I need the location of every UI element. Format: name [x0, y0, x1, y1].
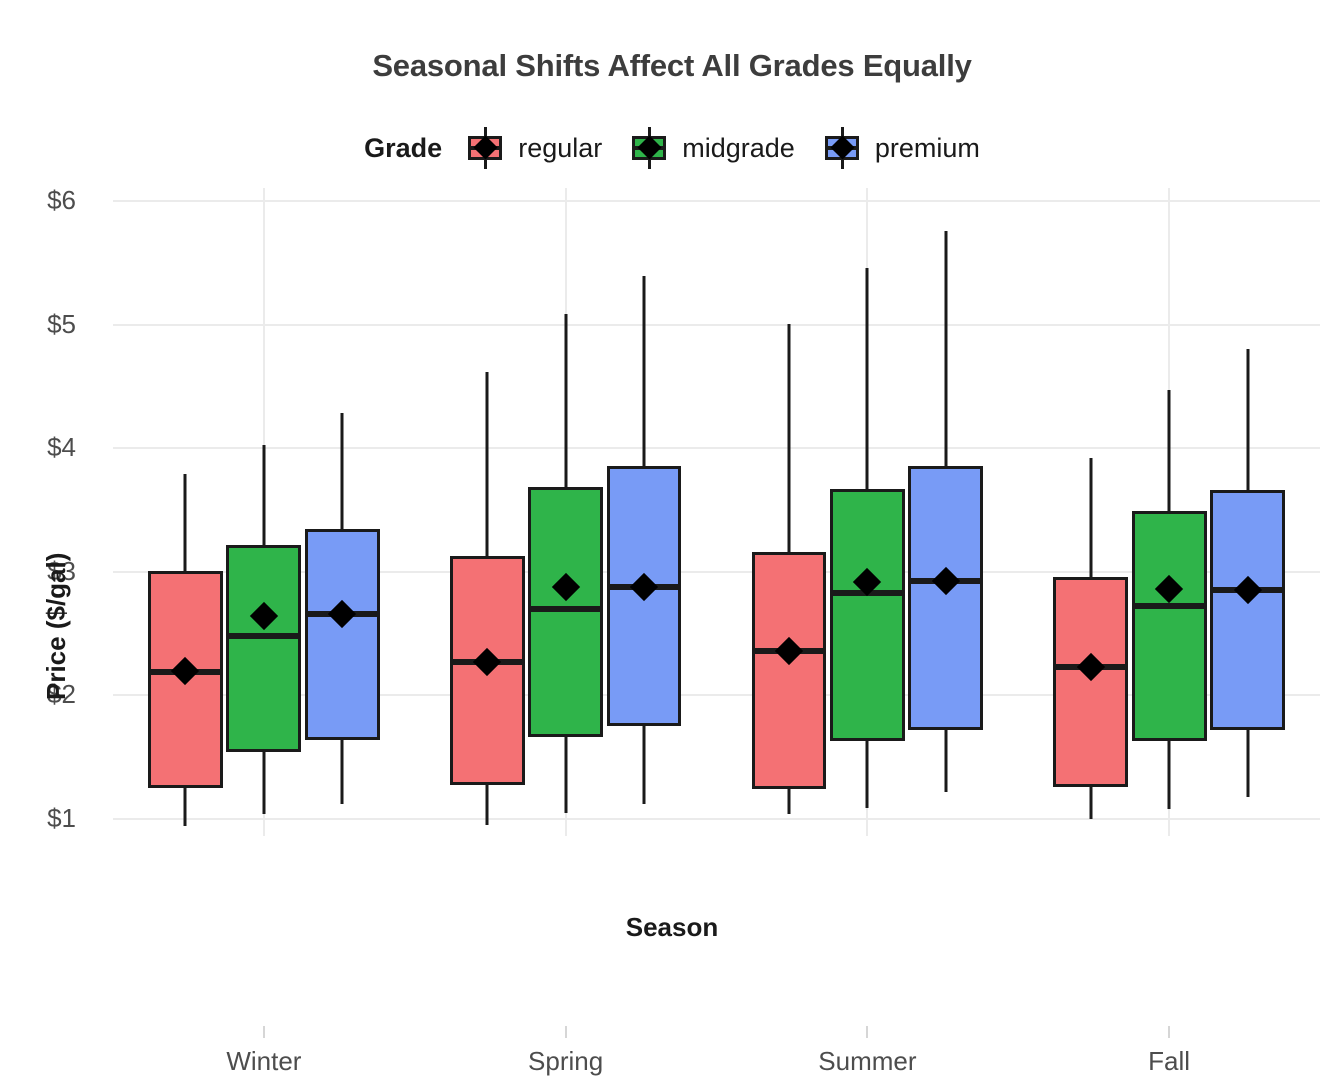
whisker-upper — [1246, 349, 1249, 491]
legend-label: midgrade — [682, 133, 795, 164]
legend-entry-regular[interactable]: regular — [464, 127, 602, 169]
y-axis-tick-label: $6 — [0, 185, 76, 216]
plot-area: $1$2$3$4$5$6 WinterSpringSummerFall Pric… — [113, 188, 1320, 836]
legend-key-boxplot-icon — [464, 127, 506, 169]
y-axis-tick-label: $1 — [0, 803, 76, 834]
x-axis-tick-label-summer: Summer — [818, 1046, 916, 1077]
box-premium-fall[interactable] — [113, 188, 1320, 836]
x-axis-title: Season — [0, 912, 1344, 943]
x-axis-tick-mark — [866, 1026, 868, 1038]
boxplot-chart: Seasonal Shifts Affect All Grades Equall… — [0, 0, 1344, 1008]
legend-entries: regularmidgradepremium — [464, 127, 980, 169]
legend-key-boxplot-icon — [821, 127, 863, 169]
x-axis-tick-mark — [263, 1026, 265, 1038]
chart-title: Seasonal Shifts Affect All Grades Equall… — [0, 48, 1344, 84]
legend-label: regular — [518, 133, 602, 164]
legend-title: Grade — [364, 133, 442, 164]
legend-entry-midgrade[interactable]: midgrade — [628, 127, 795, 169]
y-axis-title: Price ($/gal) — [41, 553, 72, 700]
legend-key-boxplot-icon — [628, 127, 670, 169]
legend: Grade regularmidgradepremium — [0, 126, 1344, 170]
x-axis-tick-mark — [565, 1026, 567, 1038]
x-axis-tick-mark — [1168, 1026, 1170, 1038]
y-axis-tick-label: $5 — [0, 309, 76, 340]
whisker-lower — [1246, 730, 1249, 797]
legend-entry-premium[interactable]: premium — [821, 127, 980, 169]
y-axis-tick-label: $4 — [0, 432, 76, 463]
box-iqr — [1210, 490, 1285, 730]
legend-label: premium — [875, 133, 980, 164]
x-axis-tick-label-winter: Winter — [226, 1046, 301, 1077]
x-axis-tick-label-spring: Spring — [528, 1046, 603, 1077]
x-axis-tick-label-fall: Fall — [1148, 1046, 1190, 1077]
